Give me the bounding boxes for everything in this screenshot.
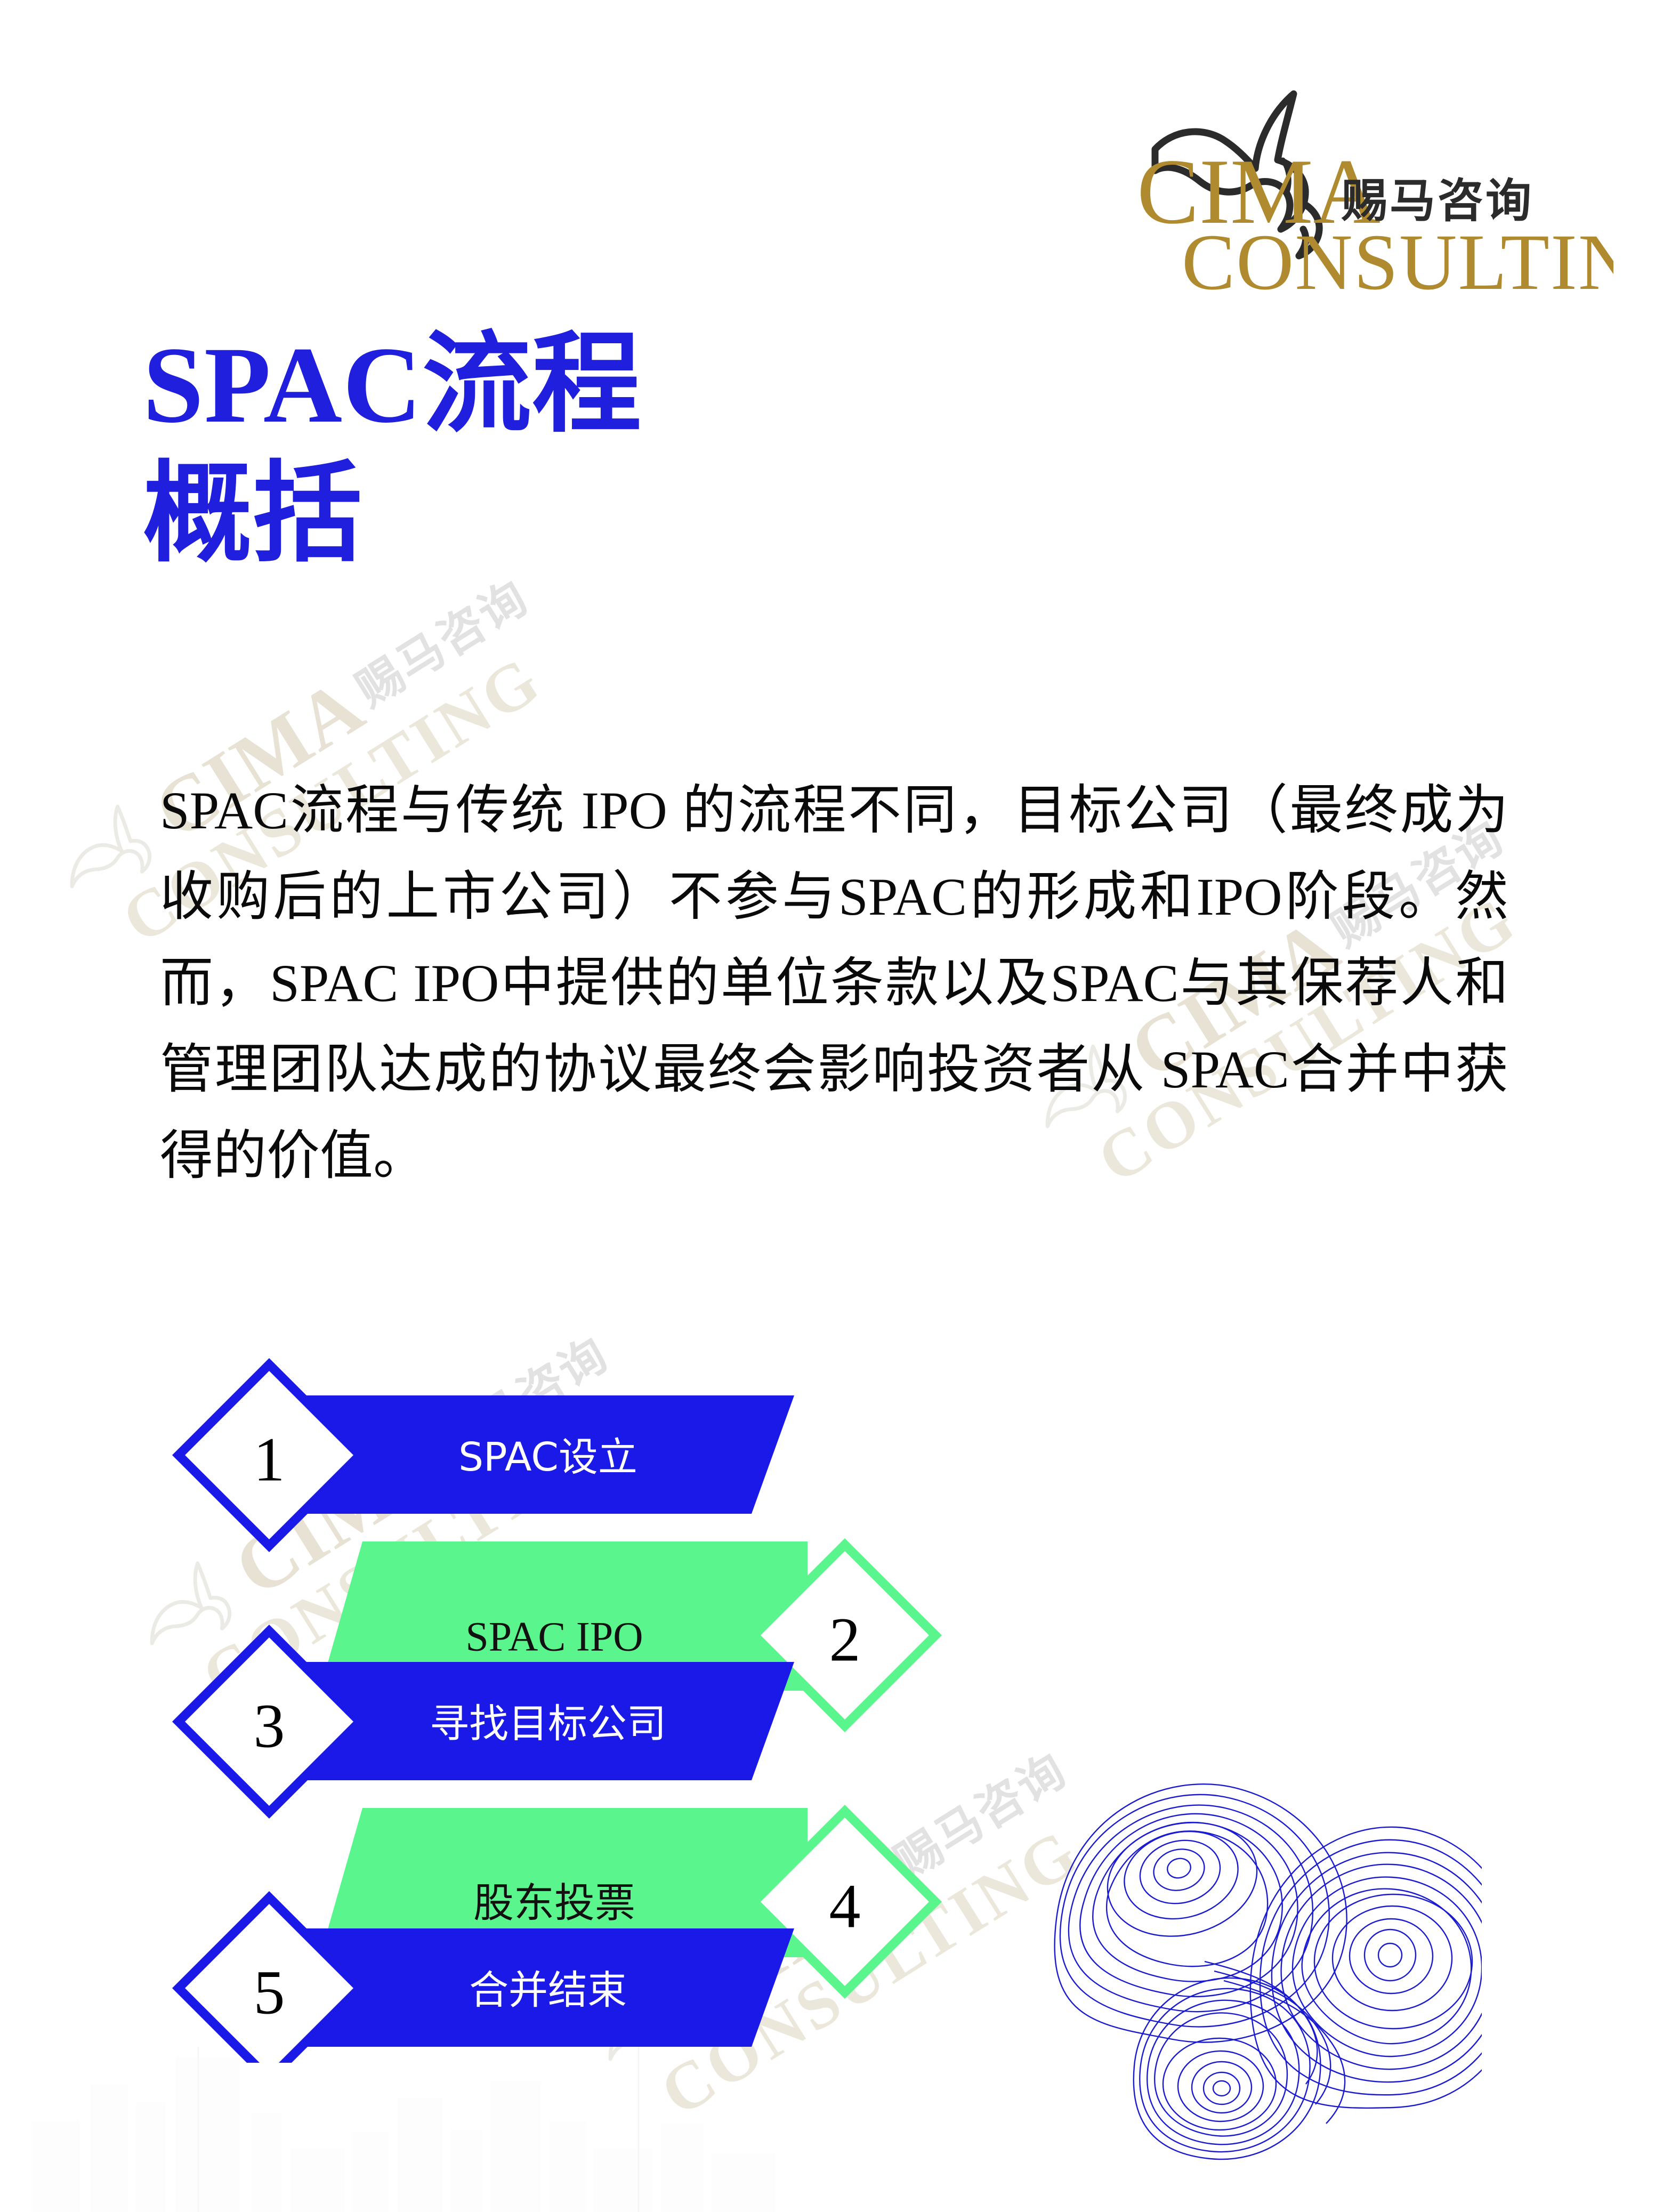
flow-step-number-4: 4 <box>829 1871 861 1941</box>
flow-step-number-1: 1 <box>254 1425 285 1495</box>
page-title-line-2: 概括 <box>143 460 642 569</box>
flow-step-number-5: 5 <box>254 1958 285 2028</box>
spac-process-flow-diagram: 1 SPAC设立 2 SPAC IPO 3 寻找目标公司 4 <box>160 1354 959 2063</box>
flow-step-label-2: SPAC IPO <box>465 1613 643 1660</box>
cima-consulting-logo: CIMA 赐马咨询 CONSULTING <box>1123 80 1613 304</box>
logo-wordmark-consulting: CONSULTING <box>1182 218 1613 304</box>
flow-step-number-3: 3 <box>254 1691 285 1761</box>
page-title-line-1: SPAC流程 <box>143 330 642 440</box>
contour-blob-decoration <box>1045 1759 1482 2185</box>
flow-step-1[interactable]: 1 SPAC设立 <box>179 1365 794 1546</box>
body-paragraph: SPAC流程与传统 IPO 的流程不同，目标公司（最终成为收购后的上市公司）不参… <box>160 768 1508 1199</box>
flow-step-label-4: 股东投票 <box>473 1879 635 1927</box>
flow-step-label-5: 合并结束 <box>469 1967 627 2013</box>
page-title: SPAC流程 概括 <box>143 330 642 569</box>
flow-step-label-3: 寻找目标公司 <box>430 1701 666 1747</box>
flow-step-number-2: 2 <box>829 1605 861 1675</box>
flow-step-label-1: SPAC设立 <box>458 1434 637 1480</box>
